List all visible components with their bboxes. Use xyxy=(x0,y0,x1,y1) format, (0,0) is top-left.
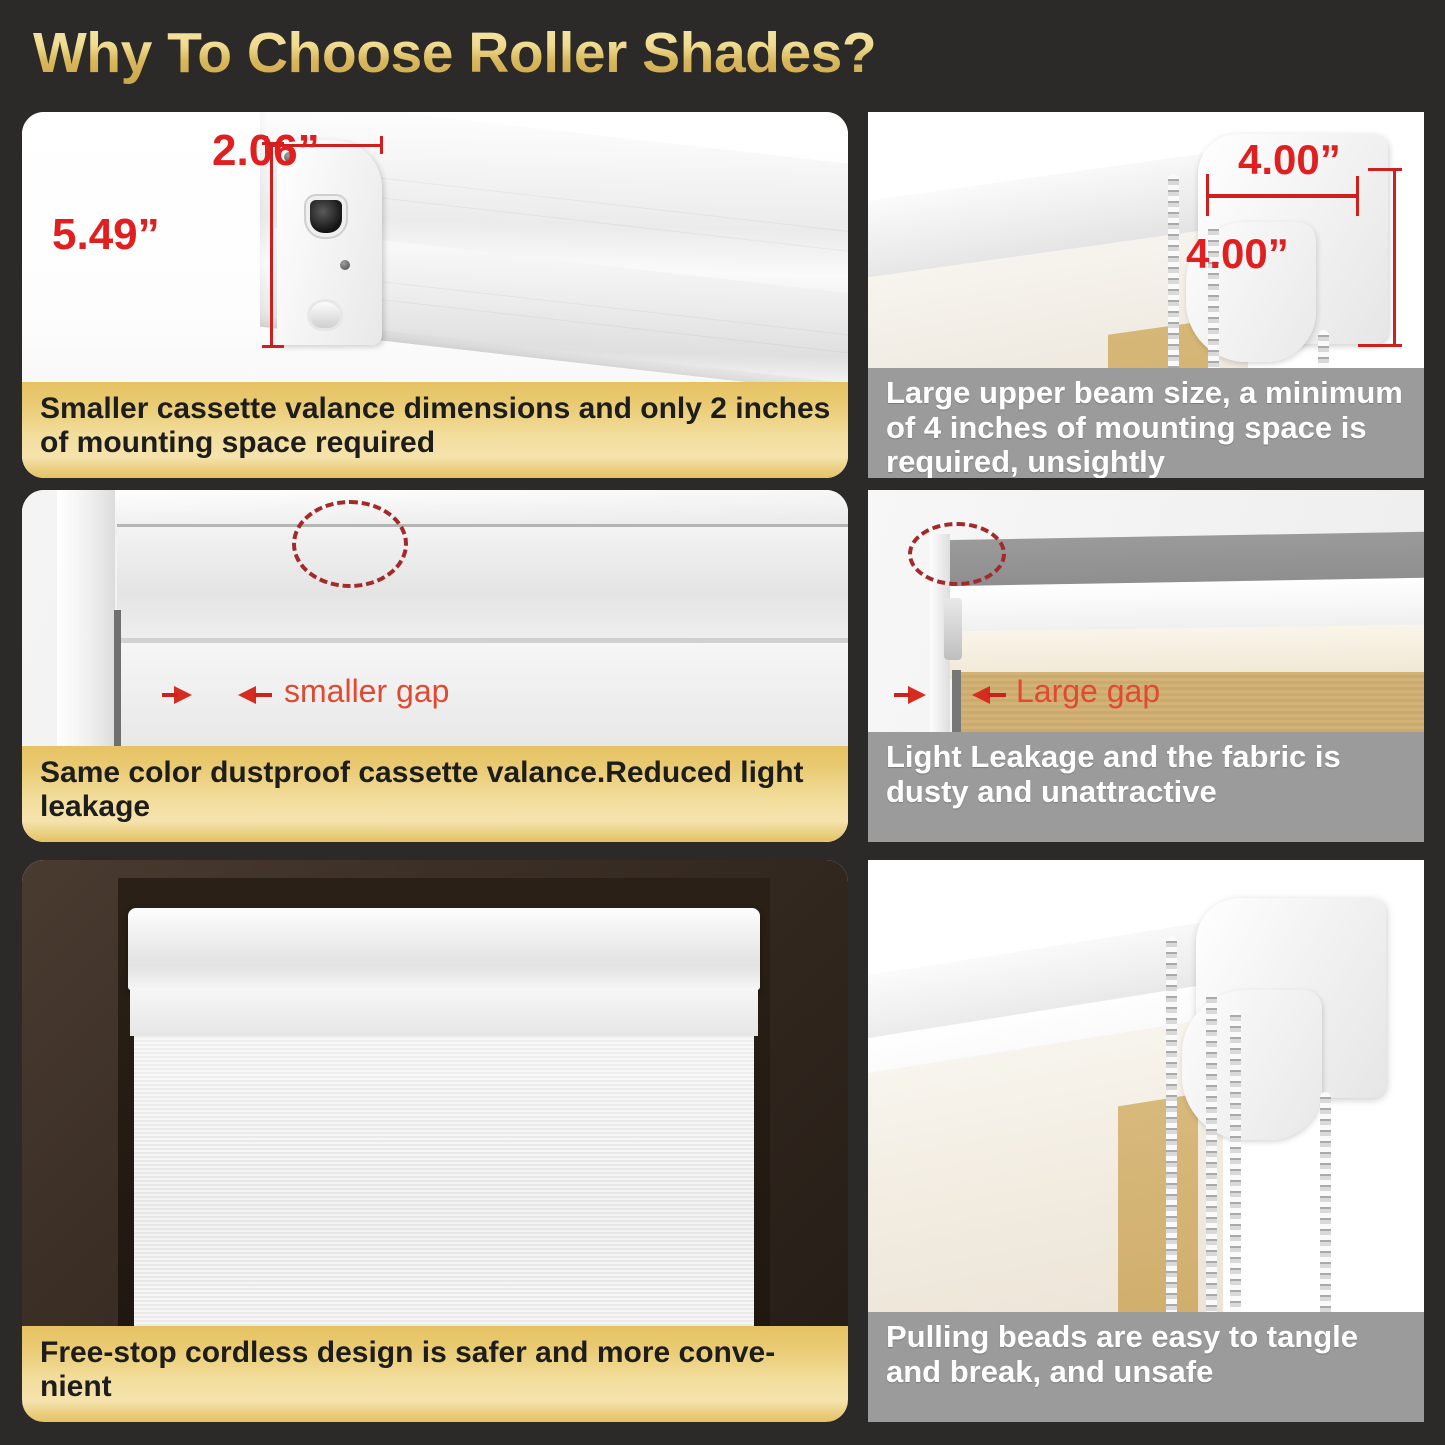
panel-light-leakage: Large gap Light Leakage and the fabric i… xyxy=(868,490,1424,842)
shade-fabric xyxy=(134,1036,754,1358)
gap-label-smaller: smaller gap xyxy=(284,673,449,710)
panel-large-upper-beam: 4.00” 4.00” Large upper beam size, a min… xyxy=(868,112,1424,478)
panel-cordless-design: Free-stop cordless design is safer and m… xyxy=(22,860,848,1422)
panel-4-caption: Light Leakage and the fabric is dusty an… xyxy=(868,732,1424,842)
panel-pulling-beads: Pulling beads are easy to tangle and bre… xyxy=(868,860,1424,1422)
bead-chain-2 xyxy=(1206,992,1217,1346)
panel-1-caption: Smaller cassette valance dimensions and … xyxy=(22,382,848,478)
height-dim-line xyxy=(270,142,273,348)
bead-chain-4 xyxy=(1320,1092,1331,1346)
cassette-valance xyxy=(128,908,760,990)
dimension-label-height: 4.00” xyxy=(1186,230,1289,278)
dimension-label-height: 5.49” xyxy=(52,210,160,260)
gap-label-large: Large gap xyxy=(1016,673,1160,710)
valance-mechanism-slot xyxy=(310,200,342,233)
page-title: Why To Choose Roller Shades? xyxy=(33,20,876,86)
highlight-circle xyxy=(908,522,1006,586)
gap-arrow-right xyxy=(908,686,926,704)
panel-smaller-cassette: 2.06” 5.49” Smaller cassette valance dim… xyxy=(22,112,848,478)
bead-chain-1 xyxy=(1166,936,1177,1346)
panel-6-caption: Pulling beads are easy to tangle and bre… xyxy=(868,1312,1424,1422)
panel-2-caption: Large upper beam size, a minimum of 4 in… xyxy=(868,368,1424,478)
panel-5-caption: Free-stop cordless design is safer and m… xyxy=(22,1326,848,1422)
panel-dustproof-valance: smaller gap Same color dustproof cassett… xyxy=(22,490,848,842)
dimension-label-width: 2.06” xyxy=(212,126,320,176)
roller-bracket-lower xyxy=(1182,990,1322,1140)
bead-chain-3 xyxy=(1230,1010,1241,1346)
valance-lower-pin xyxy=(310,302,340,328)
highlight-circle xyxy=(292,500,408,588)
panel-3-caption: Same color dustproof cassette valance.Re… xyxy=(22,746,848,842)
dimension-label-width: 4.00” xyxy=(1238,136,1341,184)
infographic-page: Why To Choose Roller Shades? 2.06” xyxy=(0,0,1445,1445)
bracket-clip xyxy=(944,598,962,660)
